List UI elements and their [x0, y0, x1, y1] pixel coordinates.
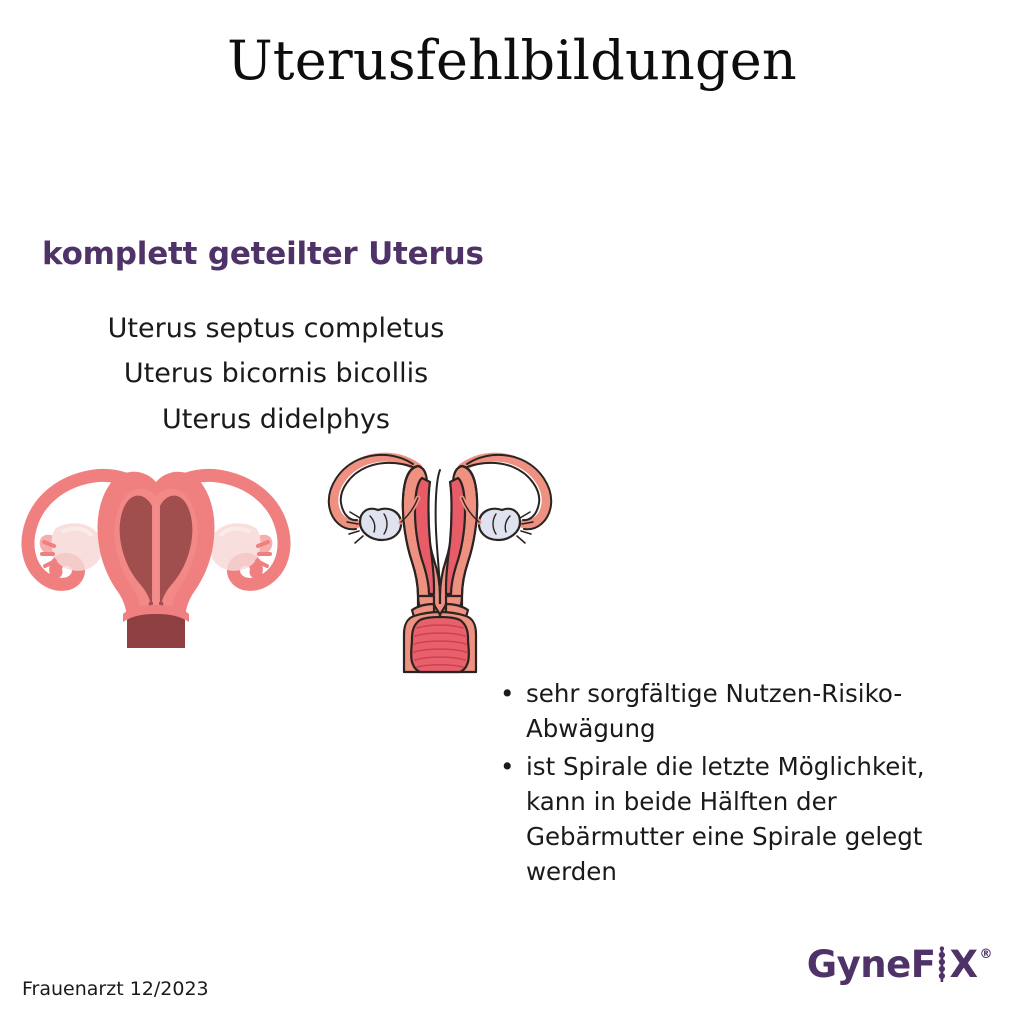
slide-canvas: Uterusfehlbildungen komplett geteilter U… — [0, 0, 1024, 1024]
list-item-text: ist Spirale die letzte Möglichkeit, kann… — [526, 749, 990, 890]
recommendation-bullet-list: • sehr sorgfältige Nutzen-Risiko-Abwägun… — [500, 676, 990, 892]
latin-term: Uterus didelphys — [40, 397, 512, 442]
iud-device-i-glyph — [936, 946, 948, 984]
list-item: • ist Spirale die letzte Möglichkeit, ka… — [500, 749, 990, 890]
logo-text-secondary: X — [949, 946, 977, 983]
page-title: Uterusfehlbildungen — [0, 30, 1024, 92]
gynefix-logo: GyneF X ® — [807, 946, 992, 984]
uterus-didelphys-illustration — [322, 446, 558, 678]
section-heading: komplett geteilter Uterus — [42, 236, 484, 272]
latin-term: Uterus bicornis bicollis — [40, 351, 512, 396]
latin-term-list: Uterus septus completus Uterus bicornis … — [40, 306, 512, 442]
list-item-text: sehr sorgfältige Nutzen-Risiko-Abwägung — [526, 676, 990, 747]
registered-trademark-icon: ® — [980, 948, 993, 961]
list-item: • sehr sorgfältige Nutzen-Risiko-Abwägun… — [500, 676, 990, 747]
source-credit: Frauenarzt 12/2023 — [22, 978, 209, 1000]
bullet-marker-icon: • — [500, 676, 526, 711]
logo-text-primary: GyneF — [807, 946, 936, 983]
septate-uterus-illustration — [10, 462, 302, 648]
latin-term: Uterus septus completus — [40, 306, 512, 351]
bullet-marker-icon: • — [500, 749, 526, 784]
